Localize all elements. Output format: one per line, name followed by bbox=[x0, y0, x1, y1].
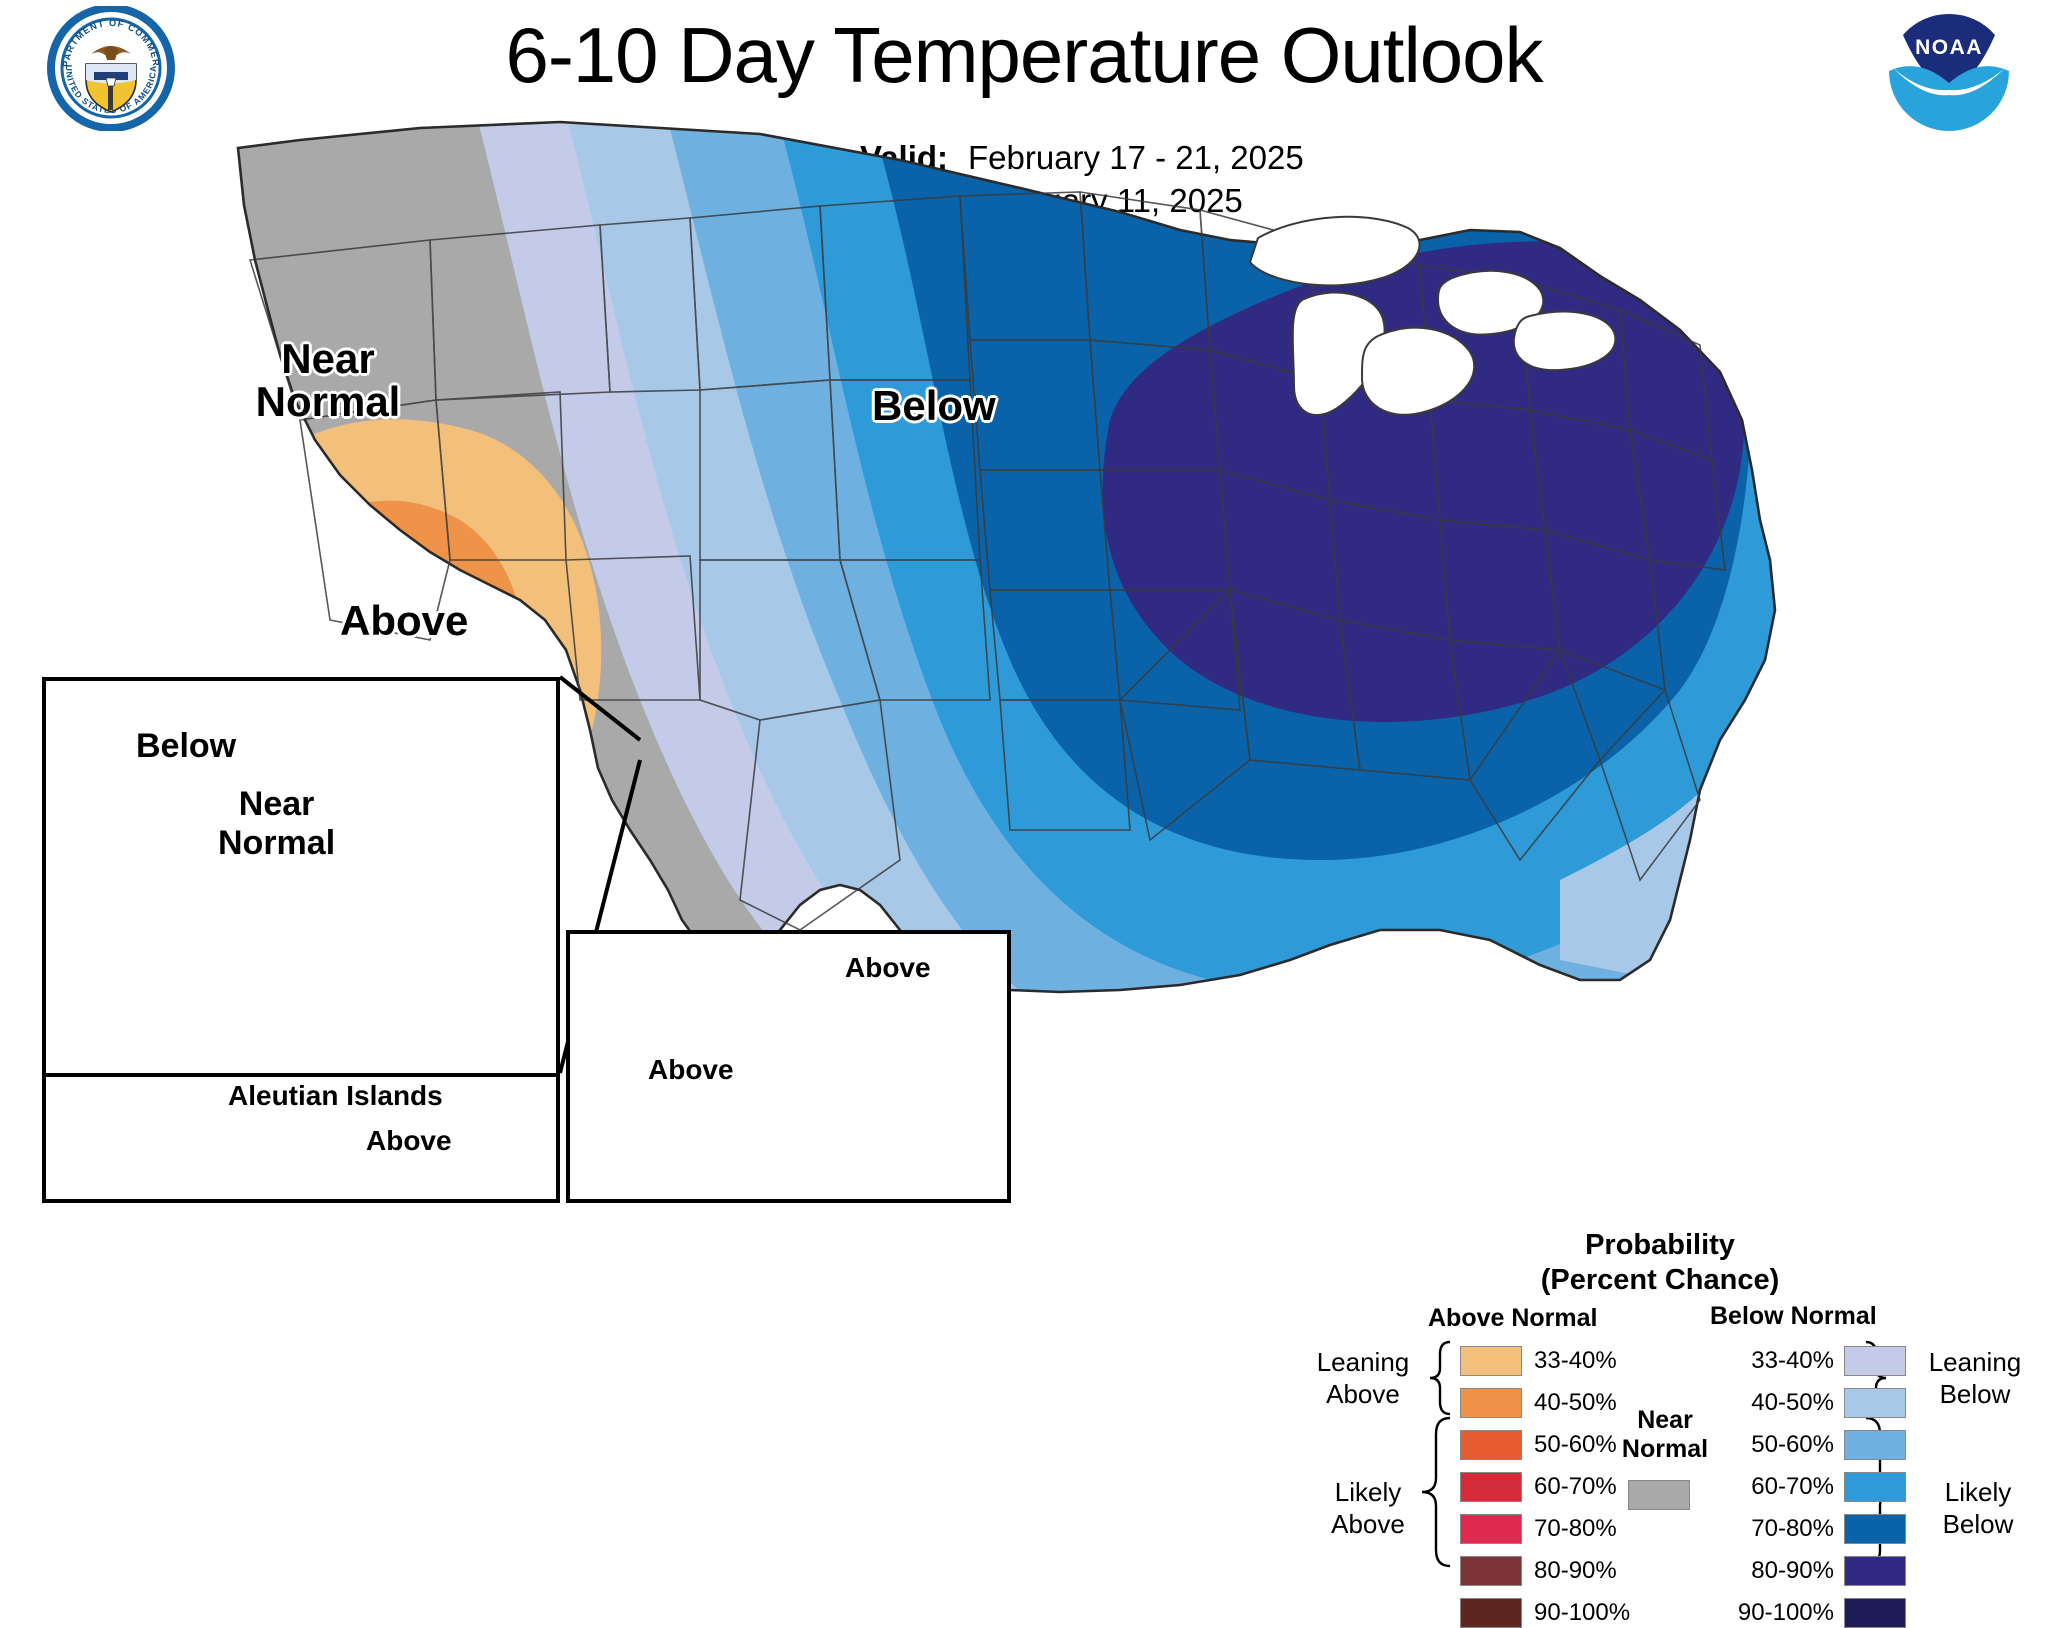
legend-pct-above-70-80: 70-80% bbox=[1534, 1514, 1617, 1544]
legend-pct-below-40-50: 40-50% bbox=[1718, 1388, 1834, 1418]
legend-swatch-above-33-40 bbox=[1460, 1346, 1522, 1376]
legend-swatch-below-70-80 bbox=[1844, 1514, 1906, 1544]
legend-swatch-above-40-50 bbox=[1460, 1388, 1522, 1418]
map-label-below: Below bbox=[872, 385, 996, 428]
legend-swatch-below-33-40 bbox=[1844, 1346, 1906, 1376]
map-label-above: Above bbox=[340, 600, 468, 643]
legend-swatch-below-60-70 bbox=[1844, 1472, 1906, 1502]
legend-leaning-above-line1: Leaning bbox=[1317, 1347, 1410, 1377]
legend-likely-above-line2: Above bbox=[1331, 1509, 1405, 1539]
legend-swatch-near-normal bbox=[1628, 1480, 1690, 1510]
map-label-near-normal-line2: Normal bbox=[256, 378, 401, 425]
alaska-label-near-normal-line2: Normal bbox=[218, 824, 335, 862]
legend-swatch-above-80-90 bbox=[1460, 1556, 1522, 1586]
legend-below-header: Below Normal bbox=[1710, 1302, 1877, 1331]
legend-swatch-below-80-90 bbox=[1844, 1556, 1906, 1586]
legend-title-line2: (Percent Chance) bbox=[1310, 1263, 2010, 1298]
legend-title: Probability (Percent Chance) bbox=[1310, 1228, 2010, 1298]
legend-pct-below-33-40: 33-40% bbox=[1718, 1346, 1834, 1376]
band-florida-near-normal bbox=[1690, 905, 1760, 1010]
hawaii-inset-box bbox=[566, 930, 1011, 1203]
aleutian-label-above: Above bbox=[366, 1125, 452, 1157]
map-label-near-normal: Near Normal bbox=[233, 338, 423, 424]
legend-leaning-below-line1: Leaning bbox=[1929, 1347, 2022, 1377]
outlook-map-page: DEPARTMENT OF COMMERCE UNITED STATES OF … bbox=[0, 0, 2048, 1583]
alaska-label-below: Below bbox=[136, 727, 236, 766]
legend-above-header: Above Normal bbox=[1428, 1304, 1597, 1333]
legend-likely-above-label: Likely Above bbox=[1298, 1476, 1438, 1540]
legend-pct-above-33-40: 33-40% bbox=[1534, 1346, 1617, 1376]
legend-pct-above-80-90: 80-90% bbox=[1534, 1556, 1617, 1586]
probability-legend: Probability (Percent Chance) Above Norma… bbox=[1310, 1228, 2010, 1578]
hawaii-label-above-bottom: Above bbox=[648, 1054, 734, 1086]
legend-swatch-below-40-50 bbox=[1844, 1388, 1906, 1418]
legend-pct-above-60-70: 60-70% bbox=[1534, 1472, 1617, 1502]
legend-leaning-below-label: Leaning Below bbox=[1900, 1346, 2048, 1410]
legend-leaning-above-line2: Above bbox=[1326, 1379, 1400, 1409]
legend-pct-above-40-50: 40-50% bbox=[1534, 1388, 1617, 1418]
legend-leaning-below-line2: Below bbox=[1940, 1379, 2011, 1409]
legend-swatch-above-70-80 bbox=[1460, 1514, 1522, 1544]
legend-title-line1: Probability bbox=[1310, 1228, 2010, 1263]
legend-swatch-above-60-70 bbox=[1460, 1472, 1522, 1502]
legend-near-normal-label: Near Normal bbox=[1610, 1406, 1720, 1464]
hawaii-label-above-top: Above bbox=[845, 952, 931, 984]
map-label-near-normal-line1: Near bbox=[281, 335, 374, 382]
legend-pct-below-70-80: 70-80% bbox=[1718, 1514, 1834, 1544]
legend-likely-above-line1: Likely bbox=[1335, 1477, 1401, 1507]
aleutian-inset-title: Aleutian Islands bbox=[228, 1080, 443, 1112]
legend-swatch-below-90-100 bbox=[1844, 1598, 1906, 1628]
legend-pct-below-80-90: 80-90% bbox=[1718, 1556, 1834, 1586]
legend-pct-above-90-100: 90-100% bbox=[1534, 1598, 1630, 1628]
alaska-inset-box bbox=[42, 677, 560, 1073]
legend-pct-above-50-60: 50-60% bbox=[1534, 1430, 1617, 1460]
legend-swatch-above-90-100 bbox=[1460, 1598, 1522, 1628]
legend-swatch-above-50-60 bbox=[1460, 1430, 1522, 1460]
legend-likely-below-label: Likely Below bbox=[1908, 1476, 2048, 1540]
legend-near-normal-line2: Normal bbox=[1622, 1435, 1708, 1463]
legend-swatch-below-50-60 bbox=[1844, 1430, 1906, 1460]
legend-pct-below-90-100: 90-100% bbox=[1718, 1598, 1834, 1628]
alaska-label-near-normal: Near Normal bbox=[218, 785, 335, 863]
legend-pct-below-60-70: 60-70% bbox=[1718, 1472, 1834, 1502]
legend-leaning-above-label: Leaning Above bbox=[1288, 1346, 1438, 1410]
legend-likely-below-line2: Below bbox=[1943, 1509, 2014, 1539]
alaska-label-near-normal-line1: Near bbox=[239, 785, 315, 823]
legend-likely-below-line1: Likely bbox=[1945, 1477, 2011, 1507]
legend-pct-below-50-60: 50-60% bbox=[1718, 1430, 1834, 1460]
legend-near-normal-line1: Near bbox=[1637, 1406, 1693, 1434]
